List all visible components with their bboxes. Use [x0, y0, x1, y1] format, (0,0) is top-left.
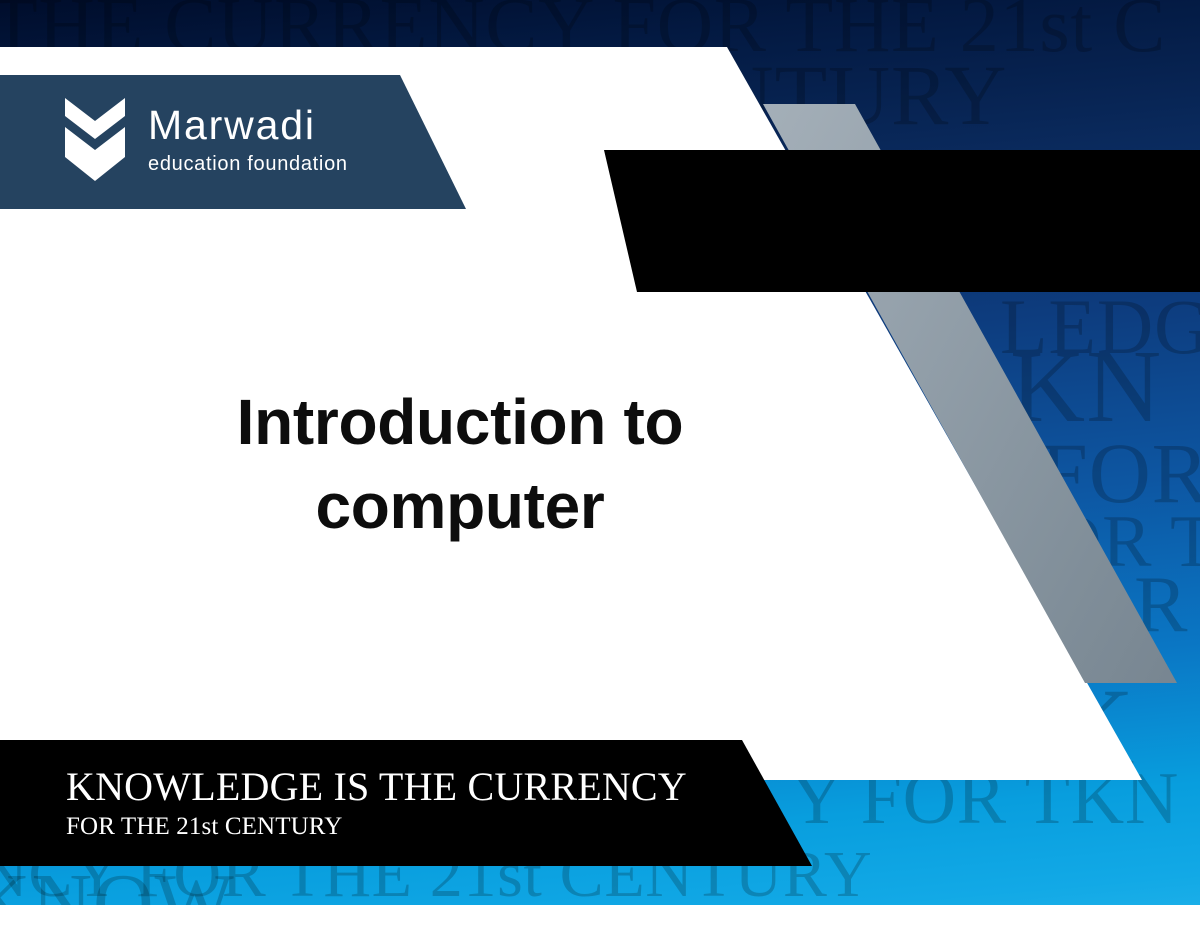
tagline-text-block: KNOWLEDGE IS THE CURRENCY FOR THE 21st C…	[66, 767, 687, 839]
brand-logo: Marwadi education foundation	[64, 96, 348, 182]
brand-subtitle: education foundation	[148, 154, 348, 174]
bottom-margin-strip	[0, 905, 1200, 927]
brand-name: Marwadi	[148, 105, 348, 146]
watermark-row-5: KN	[1010, 335, 1162, 439]
slide-title-line-2: computer	[120, 464, 800, 548]
watermark-row-4: LEDG	[1000, 288, 1200, 366]
marwadi-chevron-book-icon	[64, 96, 126, 182]
brand-wordmark: Marwadi education foundation	[148, 105, 348, 174]
presentation-slide: THE CURRENCY FOR THE 21st C CENTURY OR T…	[0, 0, 1200, 927]
tagline-line-2: FOR THE 21st CENTURY	[66, 814, 687, 839]
slide-title-line-1: Introduction to	[120, 380, 800, 464]
tagline-line-1: KNOWLEDGE IS THE CURRENCY	[66, 767, 687, 807]
slide-title: Introduction to computer	[120, 380, 800, 549]
